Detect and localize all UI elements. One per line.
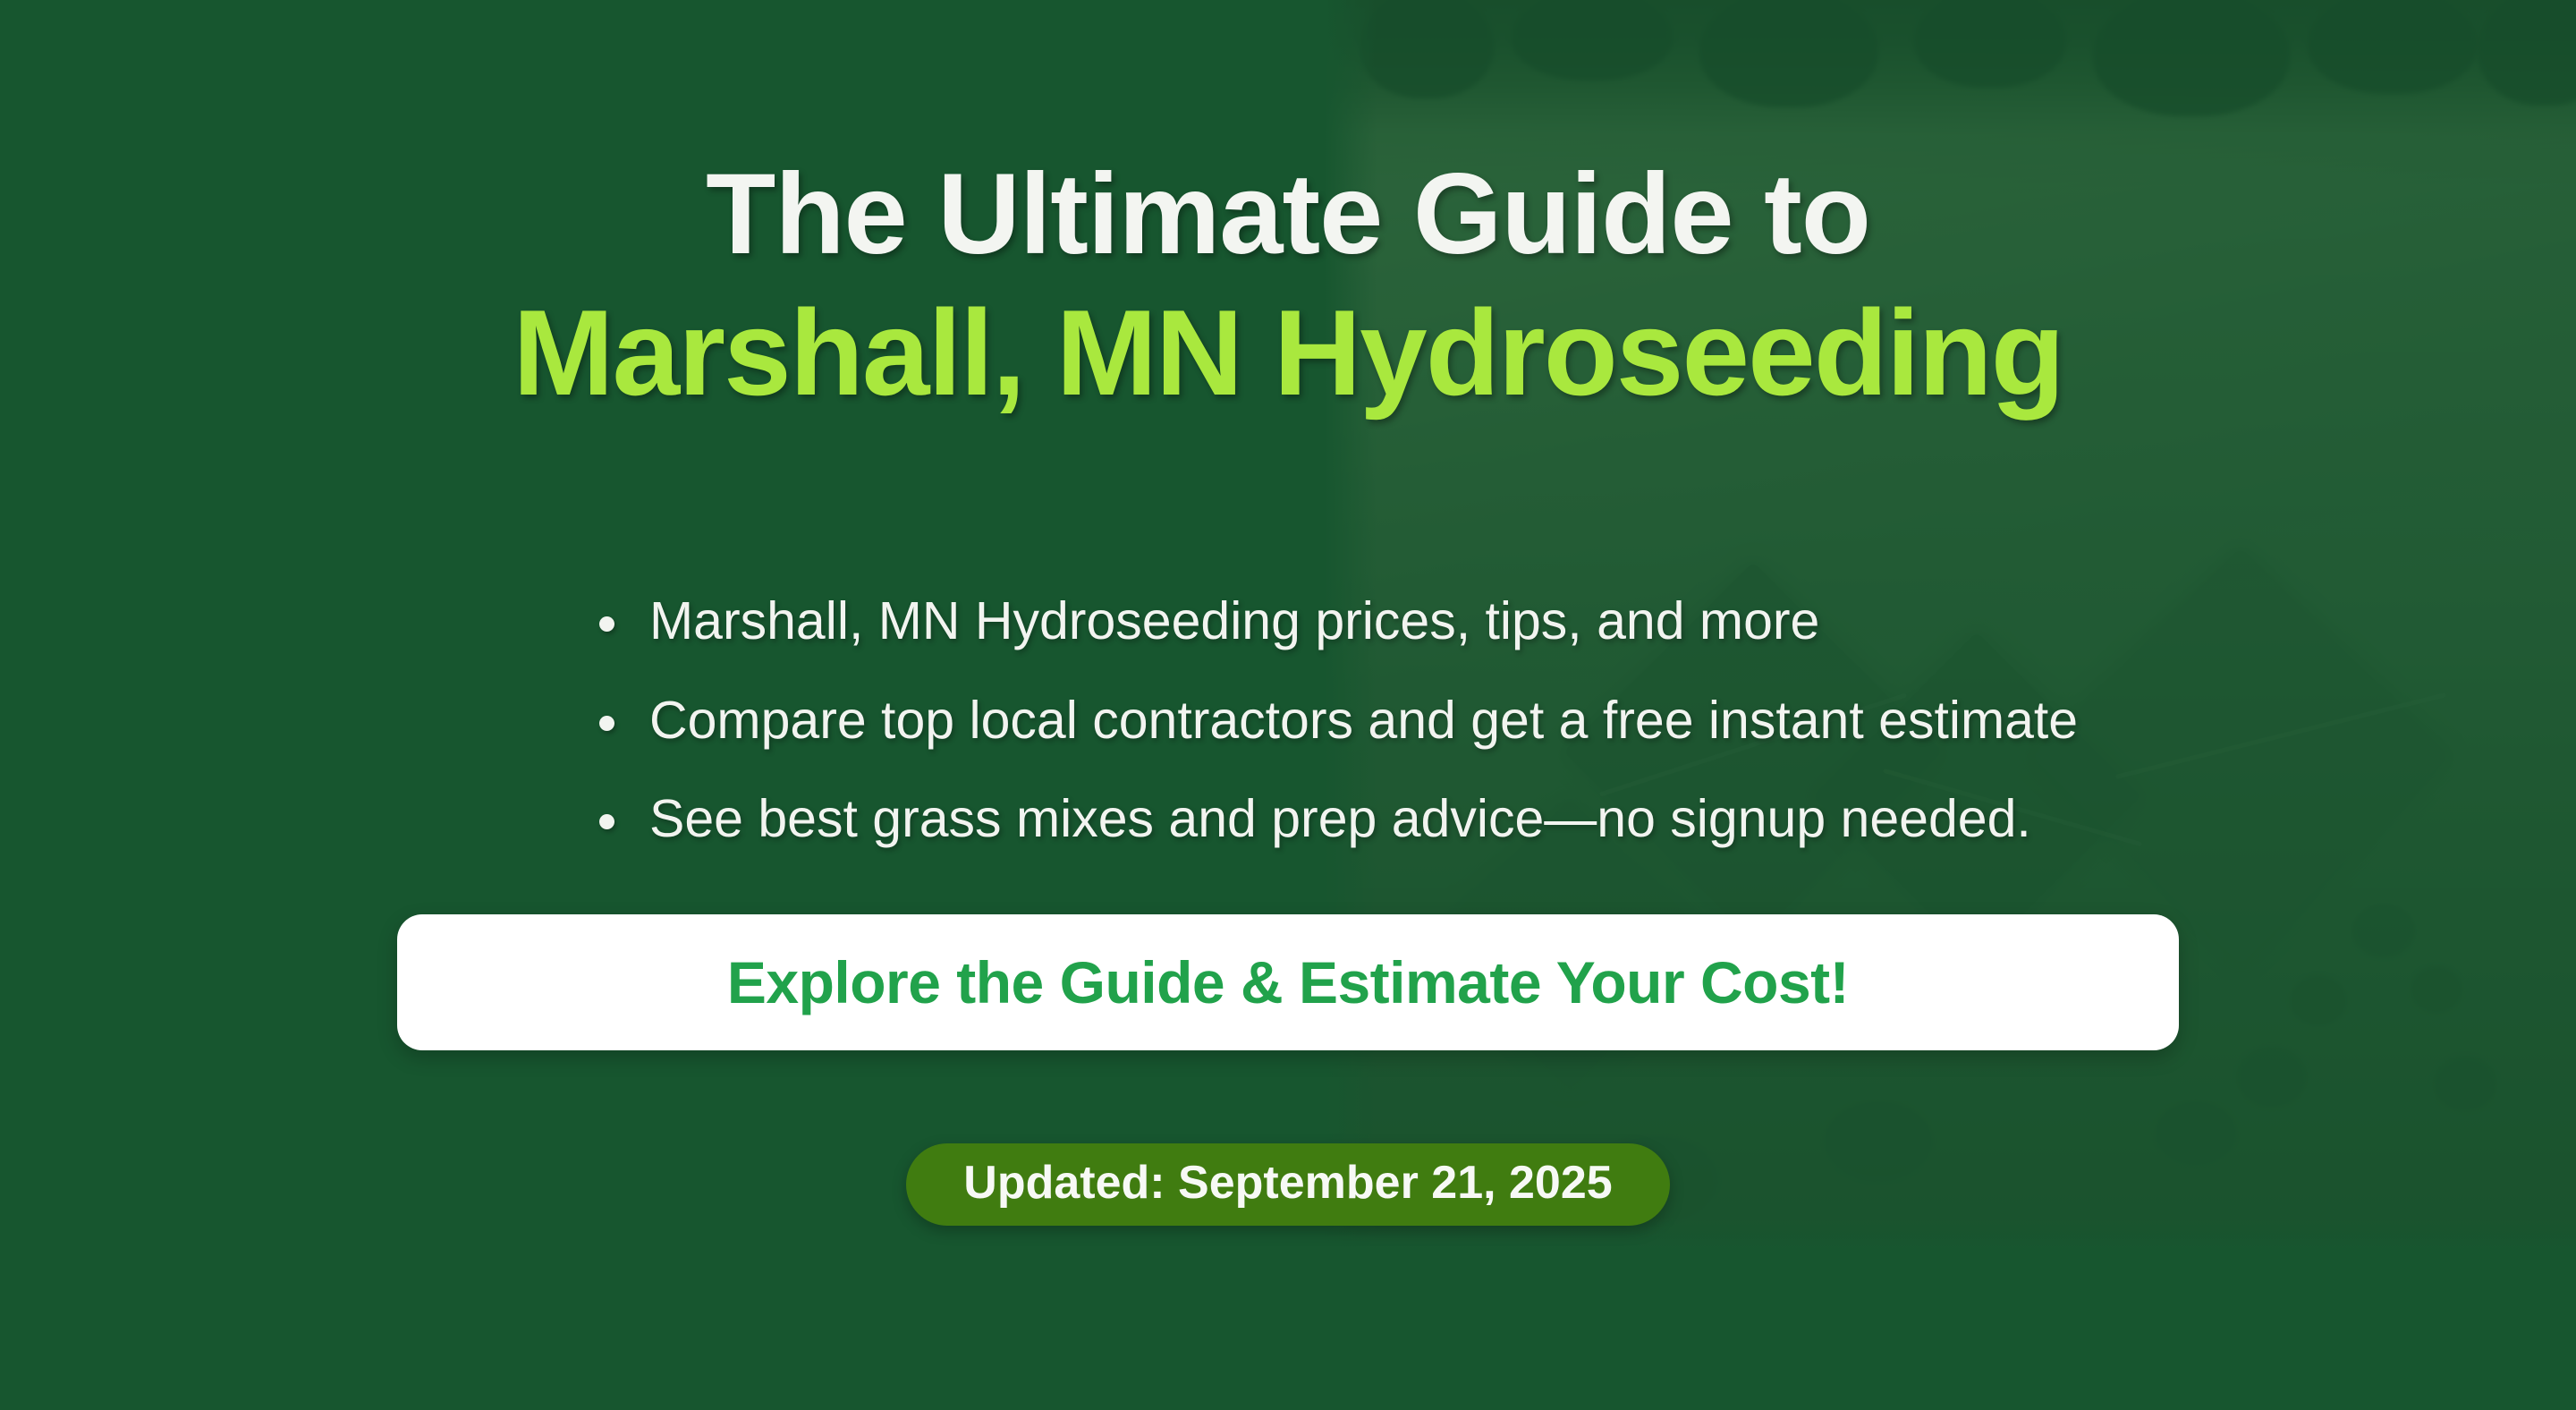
title-line-primary: The Ultimate Guide to xyxy=(0,157,2576,272)
list-item-label: Compare top local contractors and get a … xyxy=(649,690,2078,752)
hero-banner: The Ultimate Guide to Marshall, MN Hydro… xyxy=(0,0,2576,1410)
page-title: The Ultimate Guide to Marshall, MN Hydro… xyxy=(0,157,2576,413)
bullet-dot-icon xyxy=(599,814,614,829)
updated-date-badge: Updated: September 21, 2025 xyxy=(906,1143,1669,1226)
badge-container: Updated: September 21, 2025 xyxy=(0,1143,2576,1226)
list-item-label: See best grass mixes and prep advice—no … xyxy=(649,788,2031,851)
bullet-dot-icon xyxy=(599,616,614,632)
list-item: Marshall, MN Hydroseeding prices, tips, … xyxy=(295,590,2281,653)
explore-guide-button[interactable]: Explore the Guide & Estimate Your Cost! xyxy=(397,914,2179,1050)
benefits-list: Marshall, MN Hydroseeding prices, tips, … xyxy=(0,590,2576,888)
list-item-label: Marshall, MN Hydroseeding prices, tips, … xyxy=(649,590,1819,653)
cta-container: Explore the Guide & Estimate Your Cost! xyxy=(0,914,2576,1050)
title-line-accent: Marshall, MN Hydroseeding xyxy=(0,292,2576,413)
list-item: See best grass mixes and prep advice—no … xyxy=(295,788,2281,851)
bullet-dot-icon xyxy=(599,716,614,731)
list-item: Compare top local contractors and get a … xyxy=(295,690,2281,752)
